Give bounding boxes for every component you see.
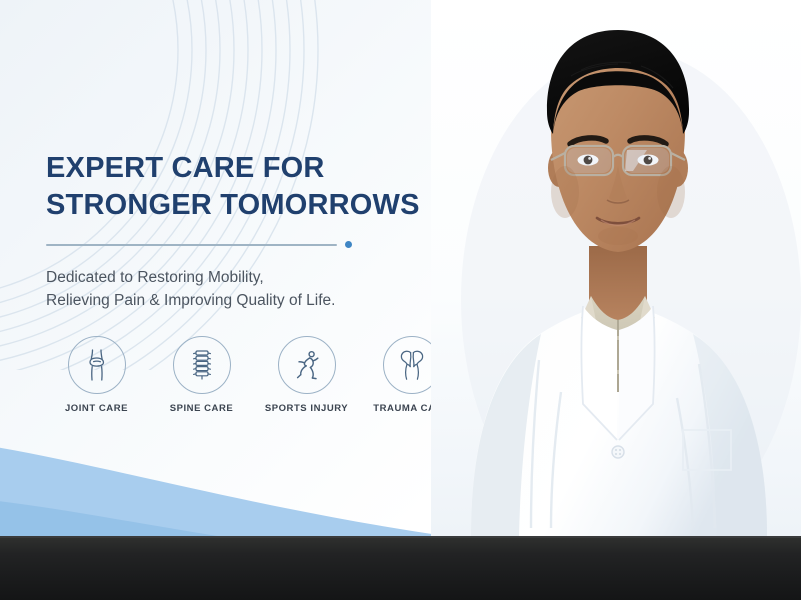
service-list: JOINT CARE [44, 336, 464, 414]
doctor-portrait-illustration [431, 0, 801, 536]
decorative-blue-sweep-icon [0, 408, 460, 536]
service-label: SPINE CARE [170, 403, 234, 414]
hero-background: EXPERT CARE FOR STRONGER TOMORROWS Dedic… [0, 0, 801, 536]
service-icon-circle [68, 336, 126, 394]
hero-text-column: EXPERT CARE FOR STRONGER TOMORROWS Dedic… [46, 150, 476, 313]
hero-subheadline: Dedicated to Restoring Mobility, Relievi… [46, 267, 476, 313]
divider-line [46, 244, 337, 246]
knee-joint-icon [80, 348, 114, 382]
divider [46, 241, 352, 248]
doctor-portrait-photo [431, 0, 801, 536]
service-icon-circle [278, 336, 336, 394]
service-label: JOINT CARE [65, 403, 128, 414]
page-title: EXPERT CARE FOR STRONGER TOMORROWS [46, 150, 476, 224]
service-item-spine-care[interactable]: SPINE CARE [149, 336, 254, 414]
hero-banner: EXPERT CARE FOR STRONGER TOMORROWS Dedic… [0, 0, 801, 600]
service-item-sports-injury[interactable]: SPORTS INJURY [254, 336, 359, 414]
service-item-joint-care[interactable]: JOINT CARE [44, 336, 149, 414]
bottom-bar-edge [0, 536, 801, 538]
service-icon-circle [173, 336, 231, 394]
spine-icon [185, 348, 219, 382]
divider-dot [345, 241, 352, 248]
pelvis-hip-icon [395, 348, 429, 382]
service-label: SPORTS INJURY [265, 403, 348, 414]
running-person-icon [290, 348, 324, 382]
bottom-bar [0, 536, 801, 600]
